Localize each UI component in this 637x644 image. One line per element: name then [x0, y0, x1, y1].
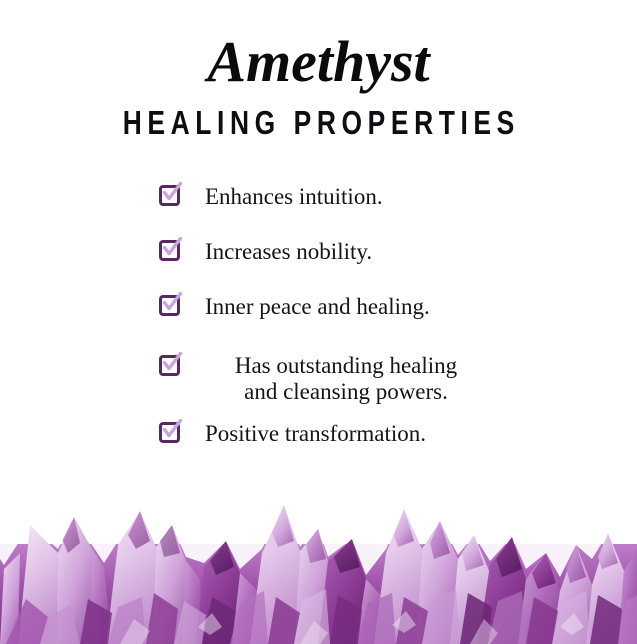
amethyst-crystal-cluster-image: [0, 449, 637, 644]
checkbox-checked-icon: [159, 238, 183, 262]
checkbox-checked-icon: [159, 420, 183, 444]
page-subtitle: HEALING PROPERTIES: [64, 105, 574, 141]
header: Amethyst HEALING PROPERTIES: [0, 30, 637, 141]
list-item: Enhances intuition.: [0, 183, 637, 238]
list-item-label: Has outstanding healing and cleansing po…: [0, 353, 496, 405]
checkbox-checked-icon: [159, 353, 183, 377]
checkbox-checked-icon: [159, 183, 183, 207]
healing-properties-list: Enhances intuition. Increases nobility.: [0, 183, 637, 460]
checkbox-checked-icon: [159, 293, 183, 317]
list-item-label: Enhances intuition.: [0, 183, 637, 210]
list-item-label: Increases nobility.: [0, 238, 637, 265]
poster-canvas: Amethyst HEALING PROPERTIES Enhances int…: [0, 0, 637, 644]
list-item-label: Positive transformation.: [0, 420, 637, 447]
list-item: Inner peace and healing.: [0, 293, 637, 353]
page-title: Amethyst: [0, 30, 637, 94]
list-item: Has outstanding healing and cleansing po…: [0, 353, 637, 420]
list-item-label: Inner peace and healing.: [0, 293, 637, 320]
list-item: Increases nobility.: [0, 238, 637, 293]
crystal-illustration: [0, 449, 637, 644]
